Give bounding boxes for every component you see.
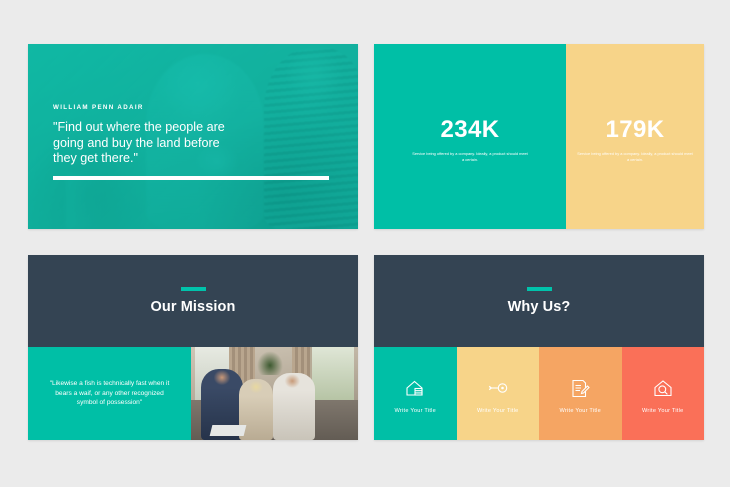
- feature-label-4: Write Your Title: [642, 408, 684, 414]
- feature-column-3[interactable]: Write Your Title: [539, 347, 622, 440]
- feature-label-2: Write Your Title: [477, 408, 519, 414]
- mission-header: Our Mission: [28, 255, 358, 347]
- slide-mission[interactable]: Our Mission "Likewise a fish is technica…: [28, 255, 358, 440]
- feature-column-1[interactable]: Write Your Title: [374, 347, 457, 440]
- mission-photo: [191, 347, 358, 440]
- accent-bar-icon: [527, 287, 552, 291]
- feature-column-2[interactable]: Write Your Title: [457, 347, 540, 440]
- stat-number-1: 234K: [441, 118, 500, 142]
- quote-block: WILLIAM PENN ADAIR "Find out where the p…: [53, 104, 303, 167]
- quote-underline-rule: [53, 176, 329, 180]
- slide-stats[interactable]: 234K Service being offered by a company.…: [374, 44, 704, 229]
- mission-title: Our Mission: [151, 299, 236, 315]
- house-search-icon: [652, 377, 674, 399]
- mission-quote-panel: "Likewise a fish is technically fast whe…: [28, 347, 191, 440]
- stat-description-2: Service being offered by a company. Idea…: [576, 151, 694, 164]
- feature-label-3: Write Your Title: [559, 408, 601, 414]
- feature-column-4[interactable]: Write Your Title: [622, 347, 705, 440]
- stat-panel-1[interactable]: 234K Service being offered by a company.…: [374, 44, 566, 229]
- why-us-header: Why Us?: [374, 255, 704, 347]
- photo-plant: [257, 351, 283, 375]
- quote-author: WILLIAM PENN ADAIR: [53, 104, 303, 111]
- why-us-title: Why Us?: [508, 299, 571, 315]
- stat-number-2: 179K: [606, 118, 665, 142]
- key-icon: [487, 377, 509, 399]
- mission-quote-text: "Likewise a fish is technically fast whe…: [48, 379, 172, 407]
- feature-columns: Write Your Title Write Your Title: [374, 347, 704, 440]
- quote-text: "Find out where the people are going and…: [53, 120, 233, 167]
- document-edit-icon: [569, 377, 591, 399]
- stat-panel-2[interactable]: 179K Service being offered by a company.…: [566, 44, 704, 229]
- stat-description-1: Service being offered by a company. Idea…: [411, 151, 529, 164]
- house-icon: [404, 377, 426, 399]
- slide-why-us[interactable]: Why Us? Write Your Title: [374, 255, 704, 440]
- stats-row: 234K Service being offered by a company.…: [374, 44, 704, 229]
- slide-deck: WILLIAM PENN ADAIR "Find out where the p…: [28, 44, 702, 440]
- accent-bar-icon: [181, 287, 206, 291]
- quote-slide-canvas: WILLIAM PENN ADAIR "Find out where the p…: [28, 44, 358, 229]
- photo-person-man: [273, 373, 315, 440]
- slide-quote[interactable]: WILLIAM PENN ADAIR "Find out where the p…: [28, 44, 358, 229]
- mission-body: "Likewise a fish is technically fast whe…: [28, 347, 358, 440]
- feature-label-1: Write Your Title: [394, 408, 436, 414]
- photo-laptop: [210, 425, 247, 436]
